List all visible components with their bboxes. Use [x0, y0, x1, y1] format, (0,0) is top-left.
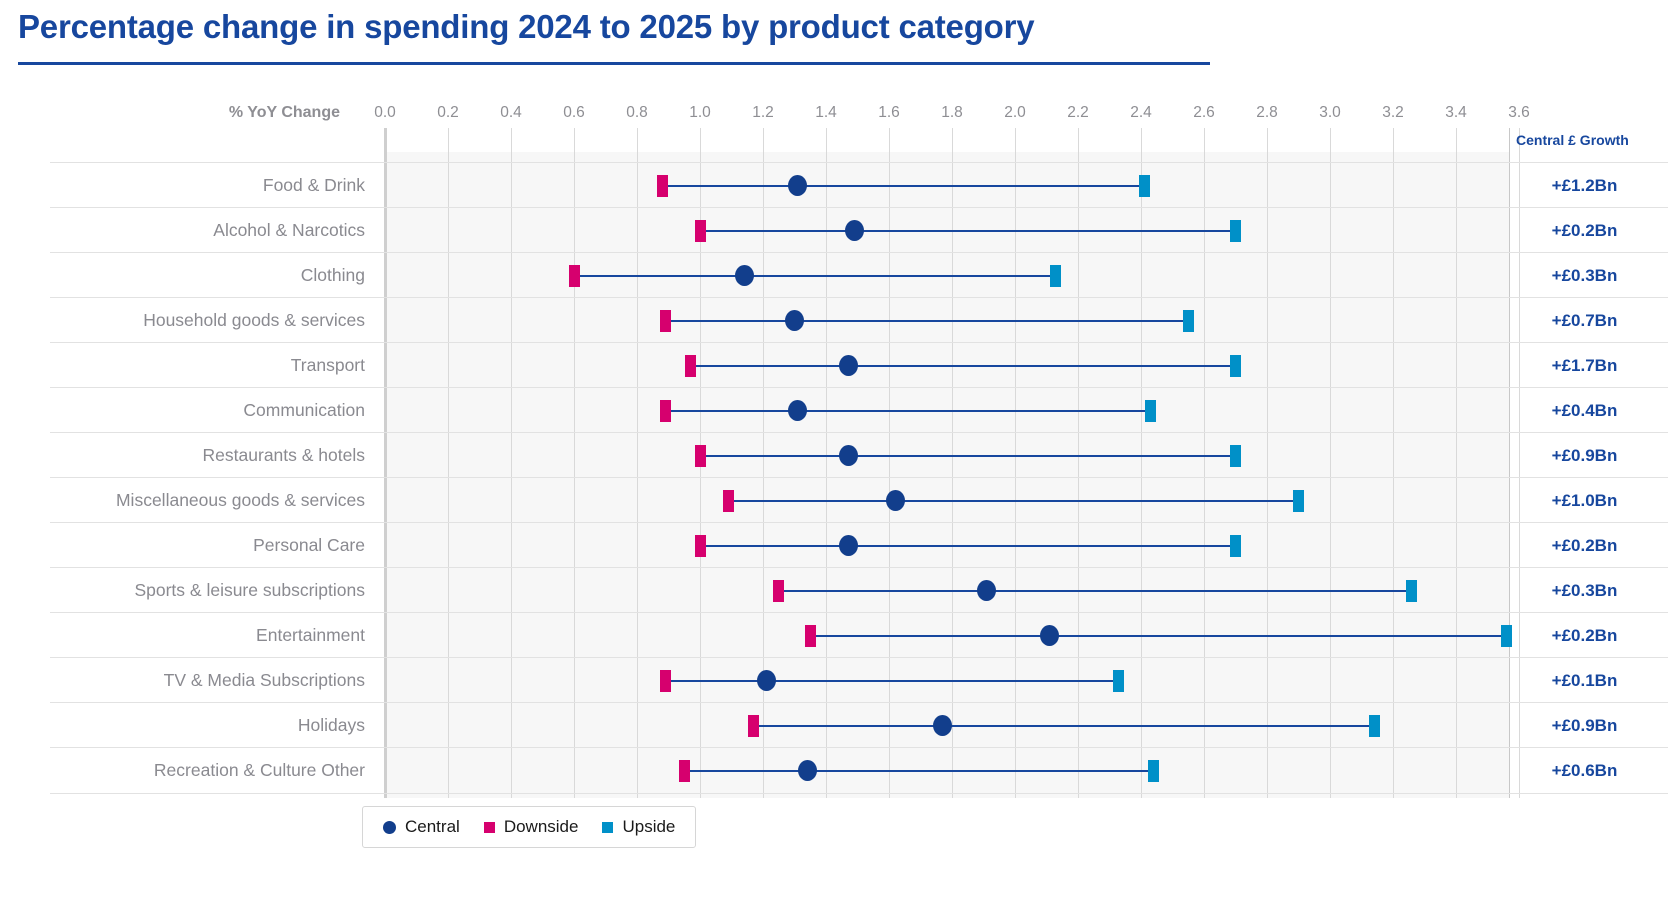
range-line — [665, 410, 1150, 412]
range-line — [665, 680, 1119, 682]
range-line — [684, 770, 1153, 772]
range-line — [700, 230, 1236, 232]
category-label: Transport — [50, 343, 365, 388]
chart-row[interactable]: TV & Media Subscriptions+£0.1Bn — [50, 657, 1668, 703]
chart-row[interactable]: Clothing+£0.3Bn — [50, 252, 1668, 298]
central-marker[interactable] — [1040, 625, 1059, 646]
central-growth-value: +£0.3Bn — [1512, 568, 1657, 613]
chart-row[interactable]: Food & Drink+£1.2Bn — [50, 162, 1668, 208]
central-growth-value: +£1.2Bn — [1512, 163, 1657, 208]
downside-marker[interactable] — [695, 220, 706, 242]
upside-marker[interactable] — [1145, 400, 1156, 422]
downside-marker[interactable] — [685, 355, 696, 377]
central-growth-value: +£0.2Bn — [1512, 523, 1657, 568]
upside-marker[interactable] — [1183, 310, 1194, 332]
central-growth-value: +£0.2Bn — [1512, 208, 1657, 253]
central-marker[interactable] — [886, 490, 905, 511]
category-label: Recreation & Culture Other — [50, 748, 365, 793]
downside-marker[interactable] — [569, 265, 580, 287]
chart-container: % YoY Change 0.00.20.40.60.81.01.21.41.6… — [0, 78, 1668, 818]
upside-marker[interactable] — [1139, 175, 1150, 197]
downside-marker[interactable] — [660, 310, 671, 332]
page-title: Percentage change in spending 2024 to 20… — [18, 8, 1034, 46]
downside-marker[interactable] — [660, 670, 671, 692]
upside-marker[interactable] — [1148, 760, 1159, 782]
central-marker[interactable] — [839, 355, 858, 376]
category-label: Household goods & services — [50, 298, 365, 343]
central-growth-value: +£0.9Bn — [1512, 703, 1657, 748]
legend-swatch-square-icon — [602, 822, 613, 833]
category-label: Clothing — [50, 253, 365, 298]
category-label: Food & Drink — [50, 163, 365, 208]
downside-marker[interactable] — [695, 535, 706, 557]
range-line — [700, 455, 1236, 457]
category-label: Alcohol & Narcotics — [50, 208, 365, 253]
upside-marker[interactable] — [1293, 490, 1304, 512]
central-marker[interactable] — [785, 310, 804, 331]
downside-marker[interactable] — [805, 625, 816, 647]
title-block: Percentage change in spending 2024 to 20… — [0, 0, 1668, 72]
downside-marker[interactable] — [695, 445, 706, 467]
range-line — [754, 725, 1375, 727]
central-marker[interactable] — [839, 535, 858, 556]
central-marker[interactable] — [933, 715, 952, 736]
category-rows: Food & Drink+£1.2BnAlcohol & Narcotics+£… — [0, 78, 1668, 818]
category-label: TV & Media Subscriptions — [50, 658, 365, 703]
legend-item-central[interactable]: Central — [383, 817, 460, 837]
range-line — [691, 365, 1236, 367]
category-label: Entertainment — [50, 613, 365, 658]
downside-marker[interactable] — [660, 400, 671, 422]
central-marker[interactable] — [798, 760, 817, 781]
category-label: Restaurants & hotels — [50, 433, 365, 478]
chart-row[interactable]: Sports & leisure subscriptions+£0.3Bn — [50, 567, 1668, 613]
category-label: Sports & leisure subscriptions — [50, 568, 365, 613]
category-label: Personal Care — [50, 523, 365, 568]
range-line — [574, 275, 1056, 277]
legend-label: Upside — [622, 817, 675, 837]
central-growth-value: +£0.6Bn — [1512, 748, 1657, 793]
range-line — [779, 590, 1412, 592]
downside-marker[interactable] — [657, 175, 668, 197]
central-growth-value: +£0.1Bn — [1512, 658, 1657, 703]
category-label: Miscellaneous goods & services — [50, 478, 365, 523]
range-line — [810, 635, 1506, 637]
range-line — [700, 545, 1236, 547]
central-growth-value: +£1.0Bn — [1512, 478, 1657, 523]
upside-marker[interactable] — [1369, 715, 1380, 737]
upside-marker[interactable] — [1113, 670, 1124, 692]
legend-label: Central — [405, 817, 460, 837]
central-growth-value: +£0.4Bn — [1512, 388, 1657, 433]
upside-marker[interactable] — [1230, 535, 1241, 557]
upside-marker[interactable] — [1501, 625, 1512, 647]
downside-marker[interactable] — [679, 760, 690, 782]
legend-item-downside[interactable]: Downside — [484, 817, 579, 837]
central-marker[interactable] — [788, 400, 807, 421]
upside-marker[interactable] — [1230, 445, 1241, 467]
downside-marker[interactable] — [723, 490, 734, 512]
title-underline-rule — [18, 62, 1210, 65]
legend-swatch-square-icon — [484, 822, 495, 833]
chart-row[interactable]: Holidays+£0.9Bn — [50, 702, 1668, 748]
upside-marker[interactable] — [1050, 265, 1061, 287]
range-line — [728, 500, 1298, 502]
range-line — [662, 185, 1144, 187]
downside-marker[interactable] — [748, 715, 759, 737]
range-line — [665, 320, 1188, 322]
legend-label: Downside — [504, 817, 579, 837]
chart-row[interactable]: Recreation & Culture Other+£0.6Bn — [50, 747, 1668, 794]
central-growth-value: +£0.3Bn — [1512, 253, 1657, 298]
chart-row[interactable]: Miscellaneous goods & services+£1.0Bn — [50, 477, 1668, 523]
central-marker[interactable] — [757, 670, 776, 691]
category-label: Holidays — [50, 703, 365, 748]
upside-marker[interactable] — [1230, 220, 1241, 242]
chart-row[interactable]: Transport+£1.7Bn — [50, 342, 1668, 388]
chart-row[interactable]: Communication+£0.4Bn — [50, 387, 1668, 433]
central-marker[interactable] — [735, 265, 754, 286]
central-growth-value: +£1.7Bn — [1512, 343, 1657, 388]
chart-row[interactable]: Restaurants & hotels+£0.9Bn — [50, 432, 1668, 478]
central-marker[interactable] — [839, 445, 858, 466]
central-growth-value: +£0.2Bn — [1512, 613, 1657, 658]
central-growth-value: +£0.9Bn — [1512, 433, 1657, 478]
upside-marker[interactable] — [1406, 580, 1417, 602]
chart-row[interactable]: Personal Care+£0.2Bn — [50, 522, 1668, 568]
chart-legend: CentralDownsideUpside — [362, 806, 696, 848]
central-marker[interactable] — [788, 175, 807, 196]
central-marker[interactable] — [845, 220, 864, 241]
chart-row[interactable]: Alcohol & Narcotics+£0.2Bn — [50, 207, 1668, 253]
central-marker[interactable] — [977, 580, 996, 601]
legend-swatch-circle-icon — [383, 821, 396, 834]
central-growth-value: +£0.7Bn — [1512, 298, 1657, 343]
chart-row[interactable]: Household goods & services+£0.7Bn — [50, 297, 1668, 343]
legend-item-upside[interactable]: Upside — [602, 817, 675, 837]
upside-marker[interactable] — [1230, 355, 1241, 377]
downside-marker[interactable] — [773, 580, 784, 602]
chart-row[interactable]: Entertainment+£0.2Bn — [50, 612, 1668, 658]
category-label: Communication — [50, 388, 365, 433]
